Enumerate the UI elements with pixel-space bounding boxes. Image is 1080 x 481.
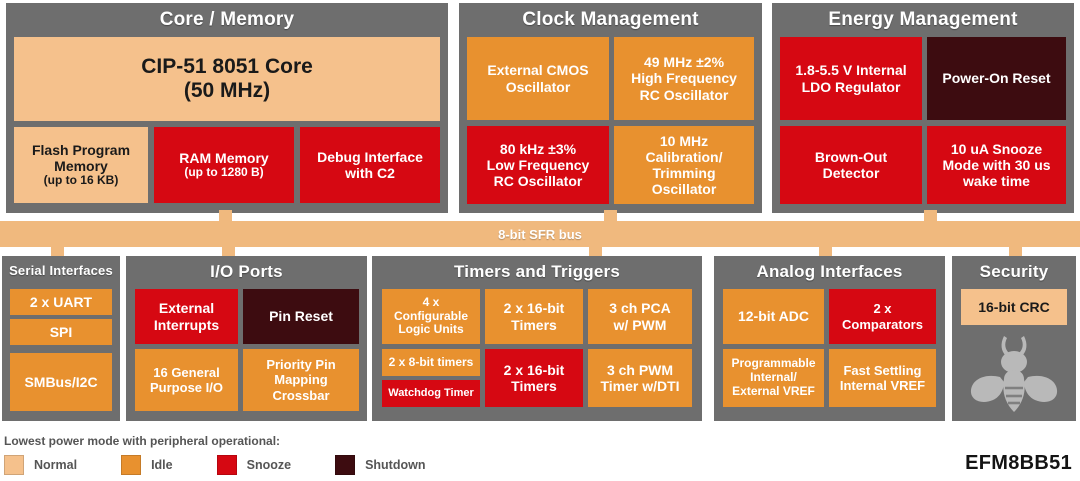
block-line: Watchdog Timer <box>385 387 477 400</box>
block-line: 49 MHz ±2% <box>617 54 751 70</box>
block-line: 10 uA Snooze <box>930 141 1063 157</box>
block-line: Debug Interface <box>303 149 437 165</box>
block-debug-interface-c2[interactable]: Debug Interface with C2 <box>300 127 440 203</box>
block-uart[interactable]: 2 x UART <box>10 289 112 315</box>
block-line: LDO Regulator <box>783 79 919 95</box>
block-line: Brown-Out <box>783 149 919 165</box>
block-line: Crossbar <box>246 388 356 403</box>
block-line: High Frequency <box>617 70 751 86</box>
block-lf-rc-oscillator[interactable]: 80 kHz ±3% Low Frequency RC Oscillator <box>467 126 609 204</box>
block-line: Low Frequency <box>470 157 606 173</box>
legend-swatch-idle <box>121 455 141 475</box>
block-line: w/ PWM <box>591 317 689 333</box>
block-line: (up to 1280 B) <box>157 166 291 180</box>
block-8bit-timers[interactable]: 2 x 8-bit timers <box>382 349 480 376</box>
block-line: 16-bit CRC <box>964 299 1064 315</box>
sfr-bus-label: 8-bit SFR bus <box>498 227 582 242</box>
panel-title-core-memory: Core / Memory <box>6 3 448 33</box>
panel-energy-management: Energy Management 1.8-5.5 V Internal LDO… <box>772 3 1074 213</box>
block-diagram: Core / Memory CIP-51 8051 Core (50 MHz) … <box>0 0 1080 481</box>
block-general-purpose-io[interactable]: 16 General Purpose I/O <box>135 349 238 411</box>
block-line: 1.8-5.5 V Internal <box>783 62 919 78</box>
block-line: Power-On Reset <box>930 70 1063 86</box>
panel-title-io-ports: I/O Ports <box>126 256 367 284</box>
block-line: Memory <box>17 158 145 174</box>
block-configurable-logic-units[interactable]: 4 x Configurable Logic Units <box>382 289 480 344</box>
block-line: 2 x UART <box>13 294 109 310</box>
block-line: Detector <box>783 165 919 181</box>
block-16bit-timers-idle[interactable]: 2 x 16-bit Timers <box>485 289 583 344</box>
block-12bit-adc[interactable]: 12-bit ADC <box>723 289 824 344</box>
block-flash-program-memory[interactable]: Flash Program Memory (up to 16 KB) <box>14 127 148 203</box>
block-brown-out-detector[interactable]: Brown-Out Detector <box>780 126 922 204</box>
block-line: SMBus/I2C <box>13 374 109 390</box>
block-line: Comparators <box>832 317 933 332</box>
panel-io-ports: I/O Ports External Interrupts Pin Reset … <box>126 256 367 421</box>
block-line: 10 MHz <box>617 133 751 149</box>
block-ram-memory[interactable]: RAM Memory (up to 1280 B) <box>154 127 294 203</box>
block-line: Internal/ <box>726 371 821 385</box>
panel-title-analog-interfaces: Analog Interfaces <box>714 256 945 284</box>
panel-timers-and-triggers: Timers and Triggers 4 x Configurable Log… <box>372 256 702 421</box>
legend-swatch-snooze <box>217 455 237 475</box>
block-power-on-reset[interactable]: Power-On Reset <box>927 37 1066 120</box>
panel-core-memory: Core / Memory CIP-51 8051 Core (50 MHz) … <box>6 3 448 213</box>
block-16bit-crc[interactable]: 16-bit CRC <box>961 289 1067 325</box>
block-spi[interactable]: SPI <box>10 319 112 345</box>
block-line: Configurable <box>385 310 477 324</box>
block-line: External CMOS <box>470 62 606 78</box>
block-line: RC Oscillator <box>617 87 751 103</box>
block-line: 3 ch PCA <box>591 300 689 316</box>
block-line: 3 ch PWM <box>591 362 689 378</box>
legend-item-idle: Idle <box>121 455 173 475</box>
block-watchdog-timer[interactable]: Watchdog Timer <box>382 380 480 407</box>
legend-label-idle: Idle <box>151 458 173 472</box>
block-programmable-vref[interactable]: Programmable Internal/ External VREF <box>723 349 824 407</box>
block-external-interrupts[interactable]: External Interrupts <box>135 289 238 344</box>
block-line: Trimming <box>617 165 751 181</box>
block-line: SPI <box>13 324 109 340</box>
block-line: Flash Program <box>17 142 145 158</box>
block-line: Interrupts <box>138 317 235 333</box>
block-cip51-core[interactable]: CIP-51 8051 Core (50 MHz) <box>14 37 440 121</box>
block-ldo-regulator[interactable]: 1.8-5.5 V Internal LDO Regulator <box>780 37 922 120</box>
panel-title-security: Security <box>952 256 1076 284</box>
block-line: 4 x <box>385 296 477 310</box>
part-number-label: EFM8BB51 <box>965 452 1072 475</box>
block-line: (up to 16 KB) <box>17 174 145 188</box>
sfr-bus: 8-bit SFR bus <box>0 221 1080 247</box>
block-line: CIP-51 8051 Core <box>17 55 437 79</box>
block-line: External VREF <box>726 385 821 399</box>
panel-title-energy-management: Energy Management <box>772 3 1074 33</box>
panel-title-clock-management: Clock Management <box>459 3 762 33</box>
block-line: Mapping <box>246 372 356 387</box>
block-line: RAM Memory <box>157 150 291 166</box>
block-pwm-timer-dti[interactable]: 3 ch PWM Timer w/DTI <box>588 349 692 407</box>
block-pca-pwm[interactable]: 3 ch PCA w/ PWM <box>588 289 692 344</box>
block-line: Mode with 30 us <box>930 157 1063 173</box>
block-snooze-mode[interactable]: 10 uA Snooze Mode with 30 us wake time <box>927 126 1066 204</box>
block-line: Pin Reset <box>246 308 356 324</box>
panel-title-timers-and-triggers: Timers and Triggers <box>372 256 702 284</box>
legend: Lowest power mode with peripheral operat… <box>4 434 904 475</box>
block-line: 12-bit ADC <box>726 308 821 324</box>
legend-caption: Lowest power mode with peripheral operat… <box>4 434 904 448</box>
block-hf-rc-oscillator[interactable]: 49 MHz ±2% High Frequency RC Oscillator <box>614 37 754 120</box>
legend-label-normal: Normal <box>34 458 77 472</box>
legend-label-snooze: Snooze <box>247 458 291 472</box>
block-comparators[interactable]: 2 x Comparators <box>829 289 936 344</box>
block-line: Programmable <box>726 357 821 371</box>
block-line: Calibration/ <box>617 149 751 165</box>
block-line: 2 x 16-bit <box>488 362 580 378</box>
block-line: Fast Settling <box>832 363 933 378</box>
block-line: 2 x 8-bit timers <box>385 356 477 370</box>
panel-clock-management: Clock Management External CMOS Oscillato… <box>459 3 762 213</box>
block-line: Timer w/DTI <box>591 378 689 394</box>
block-line: 80 kHz ±3% <box>470 141 606 157</box>
bee-logo-icon <box>966 332 1062 418</box>
block-line: RC Oscillator <box>470 173 606 189</box>
block-line: 2 x 16-bit <box>488 300 580 316</box>
block-calibration-trimming-oscillator[interactable]: 10 MHz Calibration/ Trimming Oscillator <box>614 126 754 204</box>
block-priority-pin-mapping-crossbar[interactable]: Priority Pin Mapping Crossbar <box>243 349 359 411</box>
block-16bit-timers-snooze[interactable]: 2 x 16-bit Timers <box>485 349 583 407</box>
block-line: Timers <box>488 317 580 333</box>
legend-item-snooze: Snooze <box>217 455 291 475</box>
legend-label-shutdown: Shutdown <box>365 458 425 472</box>
block-line: Oscillator <box>617 181 751 197</box>
block-line: 16 General <box>138 365 235 380</box>
legend-item-shutdown: Shutdown <box>335 455 425 475</box>
block-line: Priority Pin <box>246 357 356 372</box>
legend-item-normal: Normal <box>4 455 77 475</box>
legend-swatch-shutdown <box>335 455 355 475</box>
block-line: 2 x <box>832 301 933 316</box>
legend-swatch-normal <box>4 455 24 475</box>
block-smbus-i2c[interactable]: SMBus/I2C <box>10 353 112 411</box>
block-line: Logic Units <box>385 323 477 337</box>
panel-serial-interfaces: Serial Interfaces 2 x UART SPI SMBus/I2C <box>2 256 120 421</box>
block-line: Internal VREF <box>832 378 933 393</box>
block-line: (50 MHz) <box>17 79 437 103</box>
block-fast-settling-internal-vref[interactable]: Fast Settling Internal VREF <box>829 349 936 407</box>
legend-items: Normal Idle Snooze Shutdown <box>4 455 904 475</box>
block-line: Purpose I/O <box>138 380 235 395</box>
block-pin-reset[interactable]: Pin Reset <box>243 289 359 344</box>
block-line: with C2 <box>303 165 437 181</box>
panel-title-serial-interfaces: Serial Interfaces <box>2 256 120 281</box>
block-line: Oscillator <box>470 79 606 95</box>
block-line: Timers <box>488 378 580 394</box>
block-external-cmos-oscillator[interactable]: External CMOS Oscillator <box>467 37 609 120</box>
panel-analog-interfaces: Analog Interfaces 12-bit ADC 2 x Compara… <box>714 256 945 421</box>
block-line: wake time <box>930 173 1063 189</box>
block-line: External <box>138 300 235 316</box>
